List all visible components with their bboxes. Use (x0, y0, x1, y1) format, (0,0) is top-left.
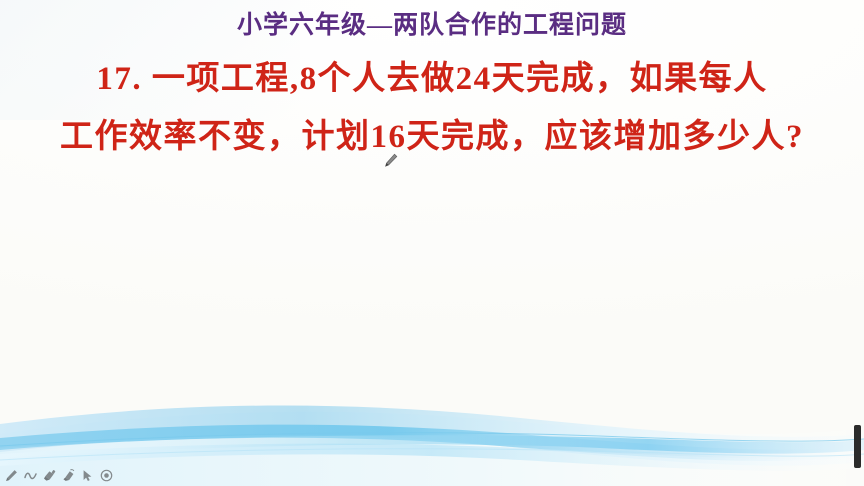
wave-hairline-2 (0, 449, 864, 460)
select-tool-button[interactable] (80, 468, 95, 483)
arrow-cursor-icon (81, 469, 94, 482)
slide-canvas: 小学六年级—两队合作的工程问题 17. 一项工程,8个人去做24天完成，如果每人… (0, 0, 864, 486)
squiggle-icon (24, 469, 37, 482)
problem-text-line-2: 工作效率不变，计划16天完成，应该增加多少人? (0, 118, 864, 157)
wave-hairline (0, 433, 864, 446)
decorative-wave (0, 376, 864, 486)
wave-layer-lower (0, 444, 864, 471)
marker-tool-button[interactable] (42, 468, 57, 483)
pencil-icon (5, 469, 18, 482)
marker-icon (43, 469, 56, 482)
record-circle-icon (100, 469, 113, 482)
eraser-tool-button[interactable] (61, 468, 76, 483)
pen-tool-button[interactable] (4, 468, 19, 483)
wave-layer-pale (0, 412, 864, 486)
annotation-toolbar[interactable] (4, 466, 114, 484)
wave-layer-upper (0, 406, 864, 466)
problem-text-line-1: 17. 一项工程,8个人去做24天完成，如果每人 (0, 60, 864, 99)
wave-svg (0, 376, 864, 486)
eraser-icon (62, 469, 75, 482)
right-edge-handle[interactable] (854, 425, 861, 468)
wave-layer-accent (0, 435, 864, 458)
record-tool-button[interactable] (99, 468, 114, 483)
wave-layer-mid (0, 425, 864, 461)
curve-tool-button[interactable] (23, 468, 38, 483)
page-title: 小学六年级—两队合作的工程问题 (0, 12, 864, 41)
